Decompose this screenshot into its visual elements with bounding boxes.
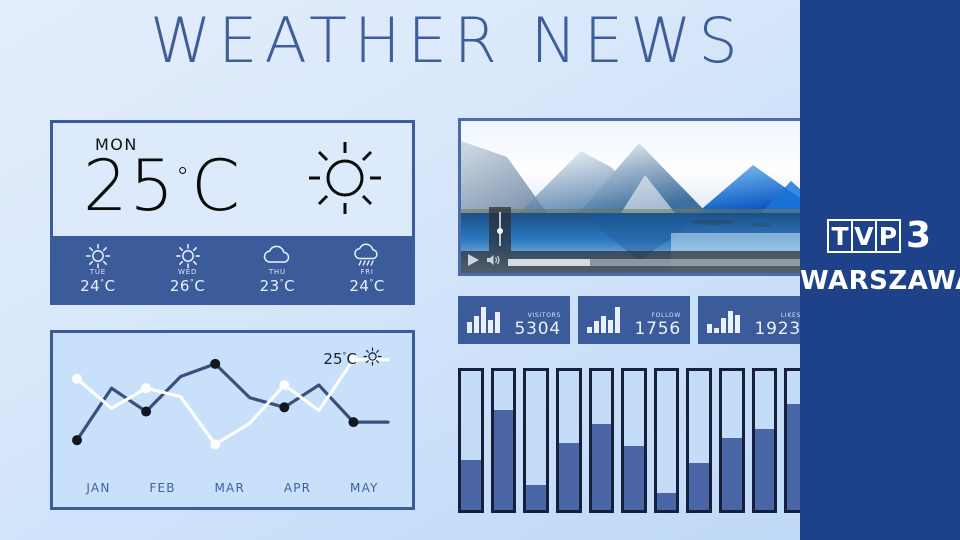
sun-icon (53, 243, 143, 267)
forecast-temp-unit: C (374, 277, 385, 295)
gauge-bar (523, 368, 549, 513)
gauge-bar-fill (755, 429, 775, 510)
forecast-day-temp: 23°C (233, 277, 323, 295)
forecast-day-wed: WED 26°C (143, 243, 233, 295)
video-progress-fill (508, 259, 590, 266)
chart-point (141, 407, 151, 417)
stat-bars-follow (587, 307, 620, 333)
chart-point (348, 417, 358, 427)
chart-point (279, 402, 289, 412)
video-player[interactable] (458, 118, 810, 276)
brand-panel: T V P 3 WARSZAWA (800, 0, 960, 540)
forecast-temp-value: 24 (349, 277, 369, 295)
volume-slider-thumb (497, 228, 503, 234)
chart-x-axis-labels: JAN FEB MAR APR MAY (53, 481, 412, 495)
forecast-day-tue: TUE 24°C (53, 243, 143, 295)
stat-label: FOLLOW (651, 312, 681, 319)
stat-bar (587, 327, 592, 333)
sun-icon (306, 139, 384, 222)
stat-bar (495, 312, 500, 333)
video-controls-bar[interactable] (461, 251, 807, 273)
stat-bar (714, 328, 719, 333)
brand-city-label: WARSZAWA (800, 266, 960, 296)
chart-badge-unit: C (347, 350, 357, 368)
volume-slider[interactable] (489, 207, 511, 251)
sun-icon (363, 347, 382, 370)
stat-text: VISITORS 5304 (508, 302, 561, 339)
gauge-bar-fill (689, 463, 709, 510)
month-label: APR (284, 481, 311, 495)
stat-text: LIKES 1923 (748, 302, 801, 339)
forecast-day-temp: 24°C (53, 277, 143, 295)
forecast-day-temp: 26°C (143, 277, 233, 295)
forecast-day-name: TUE (53, 268, 143, 276)
chart-badge-text: 25°C (323, 350, 357, 368)
stat-bar (474, 316, 479, 333)
chart-point (210, 439, 220, 449)
stat-bars-likes (707, 307, 740, 333)
forecast-temp-value: 23 (260, 277, 280, 295)
forecast-temp-value: 24 (80, 277, 100, 295)
chart-temperature-badge: 25°C (323, 347, 382, 370)
gauge-bar (491, 368, 517, 513)
gauge-bar (752, 368, 778, 513)
line-chart-card: 25°C JAN FEB MAR APR MAY (50, 330, 415, 510)
stat-bar (488, 320, 493, 333)
stat-card-visitors[interactable]: VISITORS 5304 (458, 296, 570, 344)
chart-badge-value: 25 (323, 350, 342, 368)
stat-bar (601, 316, 606, 333)
stat-value: 1923 (748, 321, 801, 339)
chart-point (72, 435, 82, 445)
stat-bars-visitors (467, 307, 500, 333)
gauge-bar (458, 368, 484, 513)
chart-point (210, 359, 220, 369)
cloud-icon (233, 243, 323, 267)
current-weather-card: MON 25°C (50, 120, 415, 305)
current-temperature: 25°C (83, 145, 242, 227)
forecast-day-name: WED (143, 268, 233, 276)
volume-slider-track[interactable] (495, 210, 505, 248)
gauge-bar (654, 368, 680, 513)
tvp-logo: T V P 3 (800, 218, 960, 254)
month-label: MAY (350, 481, 379, 495)
page-title: WEATHER NEWS (150, 4, 745, 77)
stat-bar (594, 321, 599, 333)
tvp-channel-number: 3 (906, 218, 931, 254)
gauge-bar (686, 368, 712, 513)
speaker-icon[interactable] (486, 253, 501, 271)
stat-text: FOLLOW 1756 (628, 302, 681, 339)
stat-bar (735, 315, 740, 333)
forecast-day-fri: FRI 24°C (322, 243, 412, 295)
gauge-bar (556, 368, 582, 513)
current-temp-value: 25 (83, 145, 176, 227)
stat-label: VISITORS (528, 312, 561, 319)
forecast-strip: TUE 24°C WED 26°C (53, 236, 412, 302)
forecast-temp-unit: C (194, 277, 205, 295)
stat-bar (608, 320, 613, 333)
rain-cloud-icon (322, 243, 412, 267)
forecast-temp-unit: C (284, 277, 295, 295)
video-progress-bar[interactable] (508, 259, 801, 266)
forecast-day-name: FRI (322, 268, 412, 276)
gauge-bar-fill (592, 424, 612, 510)
gauge-bar-fill (461, 460, 481, 510)
gauge-bar-fill (624, 446, 644, 510)
gauge-bar-fill (559, 443, 579, 510)
month-label: MAR (214, 481, 245, 495)
forecast-day-thu: THU 23°C (233, 243, 323, 295)
sun-icon (143, 243, 233, 267)
stat-bar (615, 307, 620, 333)
forecast-day-name: THU (233, 268, 323, 276)
gauge-bar-fill (494, 410, 514, 510)
month-label: FEB (149, 481, 175, 495)
stats-row: VISITORS 5304 FOLLOW 1756 LIKES 1923 (458, 296, 810, 344)
gauge-bar (589, 368, 615, 513)
stat-bar (728, 311, 733, 333)
gauge-bar-fill (722, 438, 742, 510)
chart-point (72, 374, 82, 384)
current-weather-top: MON 25°C (53, 123, 412, 236)
stat-value: 1756 (628, 321, 681, 339)
gauge-bar-row (458, 368, 810, 513)
stat-bar (707, 324, 712, 333)
gauge-bar (621, 368, 647, 513)
tvp-letter-p: P (875, 219, 901, 253)
chart-point (279, 380, 289, 390)
tvp-boxed-letters: T V P (829, 219, 901, 253)
month-label: JAN (86, 481, 110, 495)
forecast-temp-value: 26 (170, 277, 190, 295)
stat-bar (721, 318, 726, 333)
current-temp-unit: C (191, 145, 242, 227)
gauge-bar-fill (657, 493, 677, 510)
forecast-temp-unit: C (105, 277, 116, 295)
tvp-letter-t: T (827, 219, 853, 253)
gauge-bar (719, 368, 745, 513)
stat-bar (481, 307, 486, 333)
forecast-day-temp: 24°C (322, 277, 412, 295)
stat-card-follow[interactable]: FOLLOW 1756 (578, 296, 690, 344)
stat-bar (467, 322, 472, 333)
stat-label: LIKES (781, 312, 801, 319)
stat-card-likes[interactable]: LIKES 1923 (698, 296, 810, 344)
tvp-letter-v: V (851, 219, 877, 253)
degree-symbol: ° (176, 163, 191, 193)
chart-line-light-series (77, 360, 388, 445)
gauge-bar-fill (526, 485, 546, 510)
play-button[interactable] (467, 253, 479, 271)
stat-value: 5304 (508, 321, 561, 339)
chart-point (141, 383, 151, 393)
